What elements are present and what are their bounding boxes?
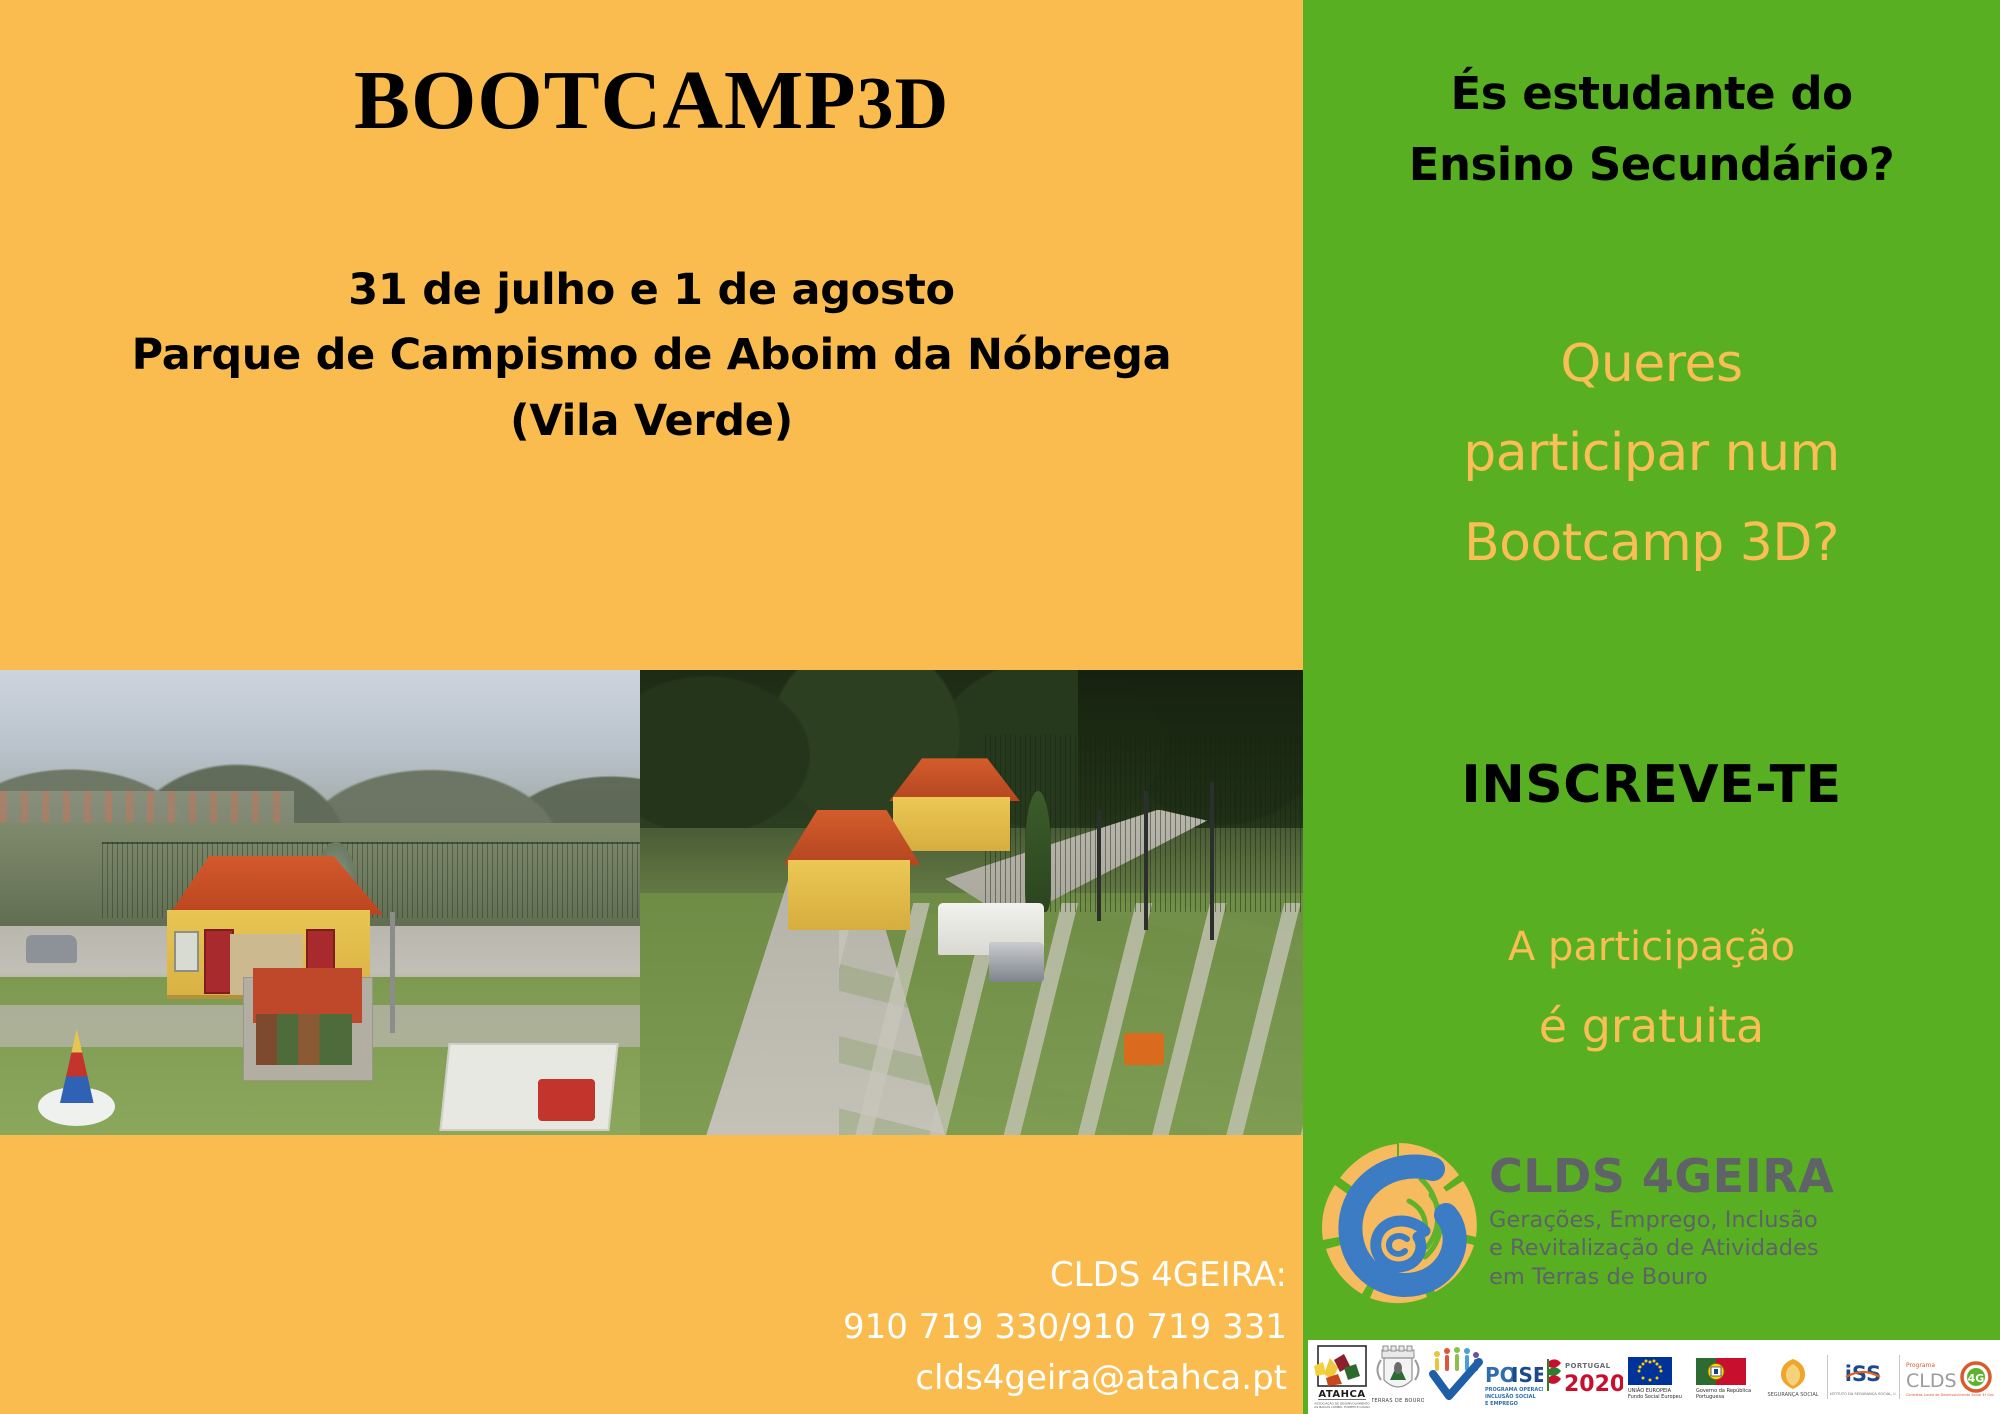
svg-text:Portuguesa: Portuguesa <box>1696 1394 1724 1399</box>
page-title: BOOTCAMP3D <box>0 52 1303 149</box>
clds-logo-subtitle: Gerações, Emprego, Inclusão e Revitaliza… <box>1489 1202 2000 1292</box>
governo-republica-portuguesa-logo: Governo da República Portuguesa <box>1694 1340 1760 1414</box>
event-details: 31 de julho e 1 de agosto Parque de Camp… <box>0 258 1303 454</box>
invitation-question: Queres participar num Bootcamp 3D? <box>1303 320 2000 588</box>
photo-minigolf-house <box>0 670 640 1135</box>
contact-org: CLDS 4GEIRA: <box>0 1250 1287 1302</box>
svg-text:INSTITUTO DA SEGURANÇA SOCIAL,: INSTITUTO DA SEGURANÇA SOCIAL, I.P. <box>1830 1392 1896 1396</box>
photo-cypress-tree <box>1025 791 1052 912</box>
contact-block: CLDS 4GEIRA: 910 719 330/910 719 331 cld… <box>0 1250 1303 1405</box>
photo-marker-triangle <box>60 1029 94 1103</box>
clds-subtitle-line-2: e Revitalização de Atividades <box>1489 1234 2000 1263</box>
free-line-2: é gratuita <box>1303 984 2000 1069</box>
left-yellow-panel: BOOTCAMP3D 31 de julho e 1 de agosto Par… <box>0 0 1303 1414</box>
svg-text:PORTUGAL: PORTUGAL <box>1565 1362 1611 1370</box>
page-title-suffix: 3D <box>857 63 949 145</box>
svg-text:UNIÃO EUROPEIA: UNIÃO EUROPEIA <box>1628 1387 1672 1394</box>
photo-house-roof <box>144 856 393 915</box>
invitation-line-2: participar num <box>1303 409 2000 498</box>
clds-swirl-gear-icon <box>1313 1135 1483 1310</box>
logo-divider-2 <box>1899 1355 1900 1399</box>
audience-question-line-2: Ensino Secundário? <box>1303 129 2000 200</box>
audience-question: És estudante do Ensino Secundário? <box>1303 58 2000 200</box>
photo-minigolf-marker <box>38 1033 115 1126</box>
right-green-panel: És estudante do Ensino Secundário? Quere… <box>1303 0 2000 1414</box>
svg-text:Governo da República: Governo da República <box>1696 1387 1751 1394</box>
photo-lamp-post <box>390 912 395 1033</box>
photo-van-cab <box>989 942 1044 982</box>
free-line-1: A participação <box>1303 910 2000 984</box>
contact-phone[interactable]: 910 719 330/910 719 331 <box>0 1302 1287 1354</box>
svg-text:ISE: ISE <box>1511 1363 1543 1387</box>
svg-text:Programa: Programa <box>1906 1362 1935 1369</box>
photo-camping-pitches <box>839 903 1303 1136</box>
photo-post-3 <box>1097 810 1101 922</box>
photo-campsite-road <box>640 670 1303 1135</box>
atahca-logo: ATAHCA ASSOCIAÇÃO DE DESENVOLVIMENTO DAS… <box>1314 1340 1370 1414</box>
photo-strip <box>0 670 1303 1135</box>
photo-recycling-bins <box>256 1014 352 1065</box>
seguranca-social-logo: SEGURANÇA SOCIAL <box>1762 1340 1824 1414</box>
photo-post-2 <box>1210 782 1214 940</box>
svg-text:2020: 2020 <box>1564 1372 1623 1397</box>
event-location: (Vila Verde) <box>0 389 1303 454</box>
uniao-europeia-fse-logo: UNIÃO EUROPEIA Fundo Social Europeu <box>1626 1340 1692 1414</box>
svg-text:SEGURANÇA SOCIAL: SEGURANÇA SOCIAL <box>1768 1392 1819 1398</box>
partner-logo-strip: ATAHCA ASSOCIAÇÃO DE DESENVOLVIMENTO DAS… <box>1308 1340 2000 1414</box>
svg-text:ATAHCA: ATAHCA <box>1318 1389 1365 1400</box>
svg-text:Fundo Social Europeu: Fundo Social Europeu <box>1628 1394 1682 1399</box>
clds-logo-title: CLDS 4GEIRA <box>1489 1152 2000 1202</box>
photo-minigolf-obstacle <box>538 1079 596 1121</box>
photo-post-1 <box>1144 791 1148 931</box>
clds-subtitle-line-1: Gerações, Emprego, Inclusão <box>1489 1206 2000 1235</box>
photo-camper-van <box>938 903 1044 982</box>
clds-logo-text: CLDS 4GEIRA Gerações, Emprego, Inclusão … <box>1483 1152 2000 1292</box>
po-ise-logo: PO ISE PROGRAMA OPERACIONAL INCLUSÃO SOC… <box>1427 1340 1543 1414</box>
programa-clds-4g-logo: Programa CLDS 4G Contratos Locais de Des… <box>1902 1340 1994 1414</box>
event-date: 31 de julho e 1 de agosto <box>0 258 1303 323</box>
logo-divider-1 <box>1827 1355 1828 1399</box>
svg-text:PROGRAMA OPERACIONAL: PROGRAMA OPERACIONAL <box>1485 1387 1543 1393</box>
svg-text:Contratos Locais de Desenvolvi: Contratos Locais de Desenvolvimento Soci… <box>1906 1393 1994 1397</box>
photo-upper-building-roof <box>877 758 1026 801</box>
page-title-main: BOOTCAMP <box>354 54 857 147</box>
svg-text:INCLUSÃO SOCIAL: INCLUSÃO SOCIAL <box>1485 1393 1536 1400</box>
photo-house-window <box>174 931 199 971</box>
photo-lower-building <box>779 810 918 931</box>
svg-text:DAS BACIAS LOMBO, HOMEM E CAVA: DAS BACIAS LOMBO, HOMEM E CAVADO <box>1314 1405 1370 1409</box>
terras-de-bouro-brasao-logo: TERRAS DE BOURO <box>1372 1340 1424 1414</box>
svg-text:E EMPREGO: E EMPREGO <box>1485 1401 1518 1407</box>
clds-4geira-logo: CLDS 4GEIRA Gerações, Emprego, Inclusão … <box>1313 1122 2000 1322</box>
poster-canvas: BOOTCAMP3D 31 de julho e 1 de agosto Par… <box>0 0 2000 1414</box>
photo-car <box>26 935 77 963</box>
audience-question-line-1: És estudante do <box>1303 58 2000 129</box>
svg-text:CLDS: CLDS <box>1906 1370 1957 1392</box>
clds-subtitle-line-3: em Terras de Bouro <box>1489 1263 2000 1292</box>
photo-lower-building-wall <box>788 860 911 930</box>
photo-orange-equipment <box>1124 1033 1164 1066</box>
invitation-line-3: Bootcamp 3D? <box>1303 499 2000 588</box>
svg-text:TERRAS DE BOURO: TERRAS DE BOURO <box>1372 1398 1424 1404</box>
photo-lower-building-roof <box>771 810 927 866</box>
portugal-2020-logo: PORTUGAL 2020 <box>1545 1340 1623 1414</box>
event-venue: Parque de Campismo de Aboim da Nóbrega <box>0 323 1303 388</box>
invitation-line-1: Queres <box>1303 320 2000 409</box>
free-participation-note: A participação é gratuita <box>1303 910 2000 1069</box>
svg-text:4G: 4G <box>1968 1372 1985 1385</box>
contact-email[interactable]: clds4geira@atahca.pt <box>0 1353 1287 1405</box>
iss-instituto-seguranca-social-logo: iSS INSTITUTO DA SEGURANÇA SOCIAL, I.P. <box>1830 1340 1896 1414</box>
call-to-action[interactable]: INSCREVE-TE <box>1303 755 2000 815</box>
